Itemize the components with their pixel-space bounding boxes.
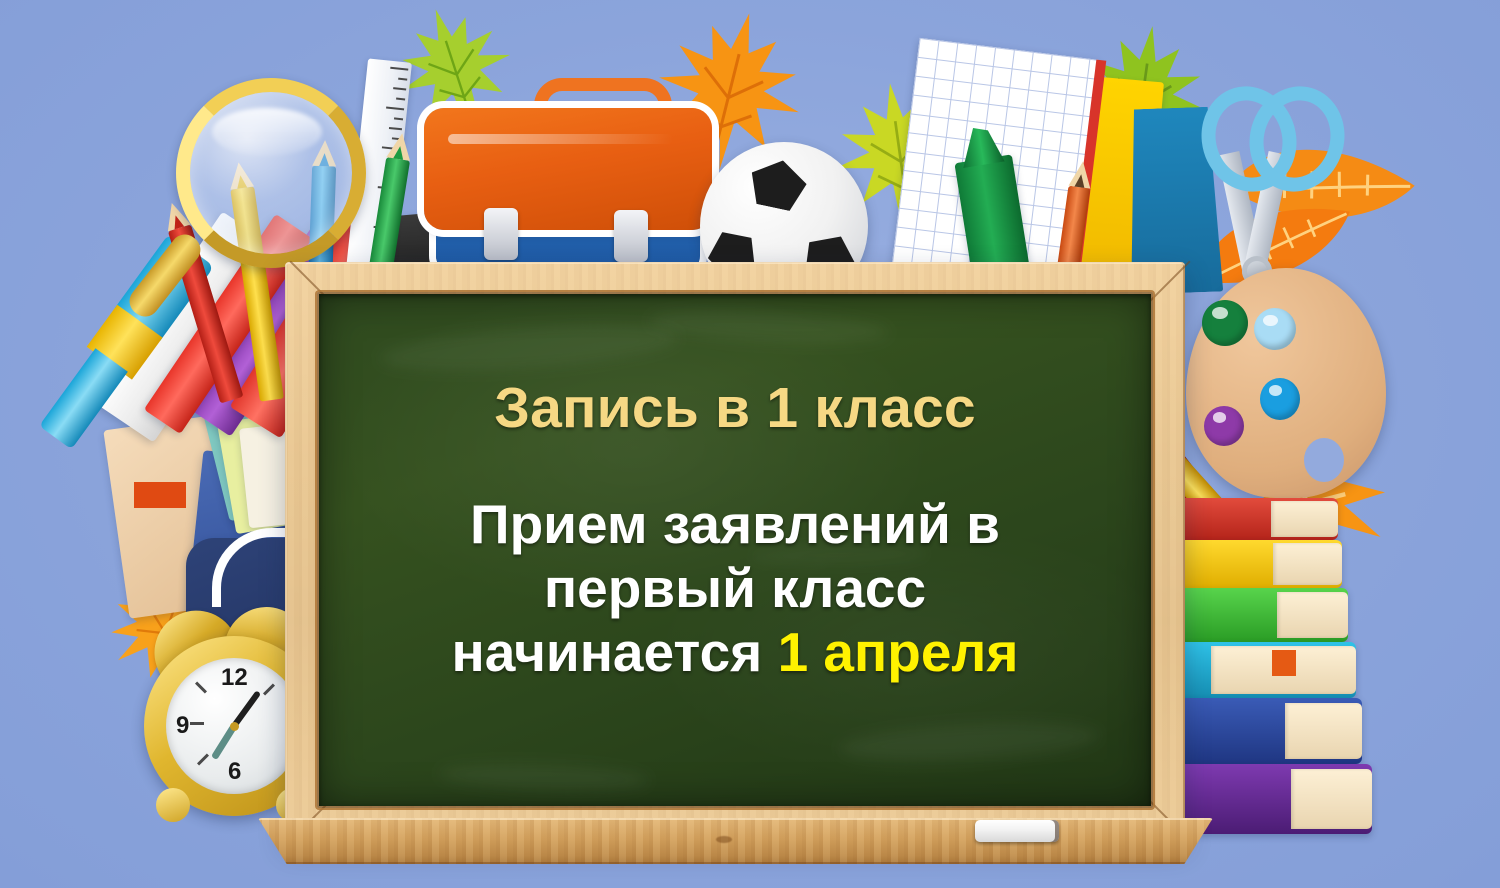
board-body-line-1: Прием заявлений в (452, 493, 1019, 557)
book-pages (1277, 592, 1348, 638)
clock-center-pin (230, 722, 239, 731)
book-green (1160, 588, 1348, 642)
clock-tick (195, 681, 207, 693)
book-pages (1291, 769, 1372, 829)
satchel-buckle (484, 208, 518, 260)
paint-blob-purple (1204, 406, 1244, 446)
board-body-line-3-prefix: начинается (452, 621, 778, 683)
scissors-icon (1196, 84, 1316, 284)
book-yellow (1160, 540, 1342, 588)
bookmark (1272, 650, 1296, 676)
clock-tick (263, 683, 275, 695)
satchel-buckle (614, 210, 648, 262)
ball-patch (746, 155, 811, 214)
satchel-flap (424, 108, 712, 230)
wood-knot (716, 836, 732, 843)
chalkboard-surface: Запись в 1 класс Прием заявлений в первы… (319, 294, 1151, 806)
book-pages (1271, 501, 1338, 537)
clock-foot (156, 788, 190, 822)
school-satchel-icon (418, 60, 718, 275)
book-red (1162, 498, 1338, 540)
clock-face: 12 9 6 (166, 658, 302, 794)
board-body-line-3: начинается 1 апреля (452, 621, 1019, 685)
poster-canvas: 12 9 6 (0, 0, 1500, 888)
board-body-highlight-date: 1 апреля (778, 621, 1019, 683)
clock-numeral-6: 6 (228, 758, 241, 786)
book-blue (1160, 698, 1362, 764)
paint-blob-lightblue (1254, 308, 1296, 350)
board-title: Запись в 1 класс (494, 380, 976, 437)
paint-palette-icon (1186, 268, 1386, 498)
book-cyan (1160, 642, 1356, 698)
chalk-stick (975, 820, 1059, 842)
palette-thumb-hole (1304, 438, 1344, 482)
clock-numeral-9: 9 (176, 712, 189, 740)
lens-glare (212, 108, 322, 156)
clock-tick (197, 753, 209, 765)
paint-blob-blue (1260, 378, 1300, 420)
chalkboard: Запись в 1 класс Прием заявлений в первы… (285, 262, 1185, 842)
board-text-block: Запись в 1 класс Прием заявлений в первы… (319, 294, 1151, 806)
paint-blob-green (1202, 300, 1248, 346)
magnifier-lens (176, 78, 366, 268)
book-pages (1273, 543, 1342, 584)
chalk-ledge (258, 818, 1213, 864)
magnifying-glass-icon (176, 78, 366, 268)
book-pages (1285, 703, 1362, 760)
board-body-line-2: первый класс (452, 557, 1019, 621)
clock-tick (190, 722, 204, 725)
clock-numeral-12: 12 (221, 664, 248, 692)
board-body: Прием заявлений в первый класс начинаетс… (452, 493, 1019, 684)
